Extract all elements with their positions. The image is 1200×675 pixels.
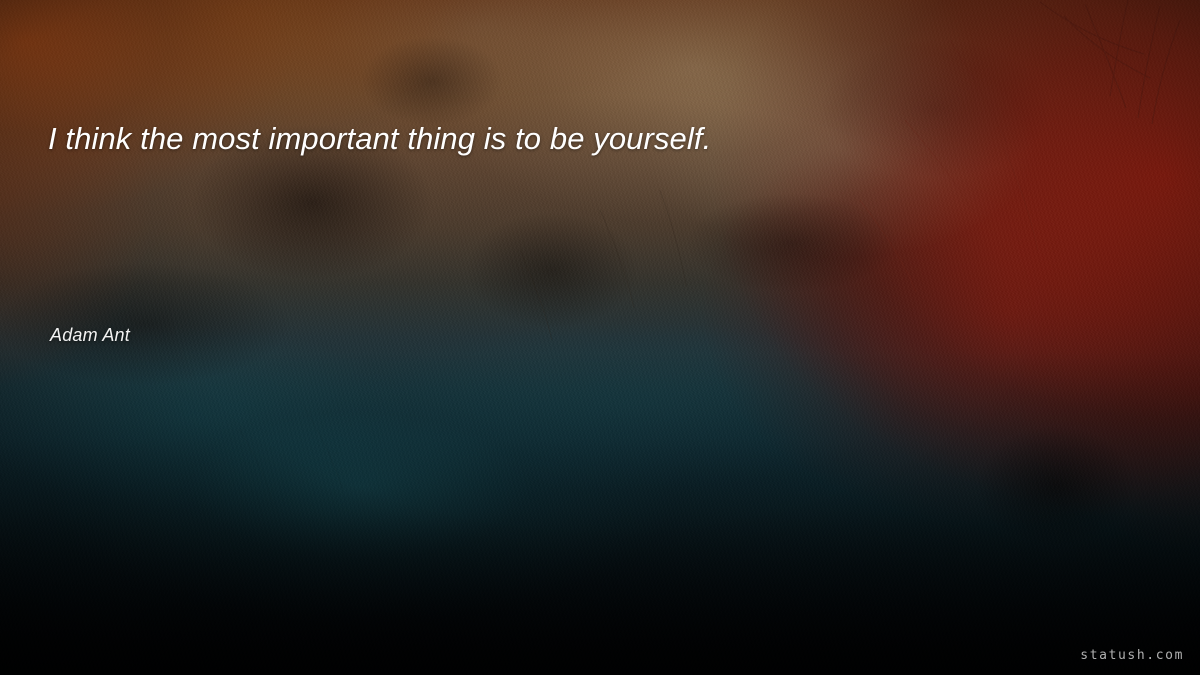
site-watermark: statush.com [1080, 648, 1184, 664]
quote-image-card: I think the most important thing is to b… [0, 0, 1200, 675]
quote-content: I think the most important thing is to b… [0, 0, 1200, 675]
quote-author: Adam Ant [50, 323, 130, 347]
quote-text: I think the most important thing is to b… [48, 118, 1108, 160]
